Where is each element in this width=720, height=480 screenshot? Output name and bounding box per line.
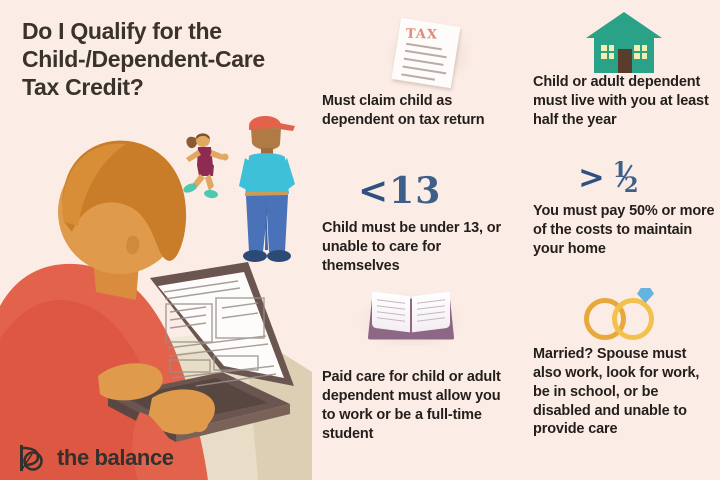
- right-item-2-text: You must pay 50% or more of the costs to…: [533, 202, 715, 259]
- greater-than-glyph: >: [578, 158, 606, 196]
- right-item-1-text: Child or adult dependent must live with …: [533, 73, 715, 130]
- tax-paper-line: [405, 50, 447, 58]
- middle-item-3-text: Paid care for child or adult dependent m…: [322, 368, 512, 443]
- wedding-ring-right: [612, 298, 654, 340]
- greater-than-half-symbol: > 1 2: [578, 158, 641, 196]
- tax-paper-line: [401, 73, 435, 80]
- open-book-icon: [358, 288, 464, 350]
- book-page-right: [412, 292, 450, 333]
- less-than-thirteen-symbol: <13: [358, 170, 441, 212]
- house-door: [618, 49, 632, 73]
- infographic-canvas: Do I Qualify for the Child-/Dependent-Ca…: [0, 0, 720, 480]
- running-girl-figure: [178, 128, 234, 200]
- the-balance-logo: the balance: [18, 442, 174, 474]
- house-roof: [586, 12, 662, 38]
- tax-paper-line: [404, 58, 444, 66]
- wedding-rings-icon: [580, 288, 676, 344]
- less-than-glyph: <: [358, 170, 389, 212]
- right-item-3-text: Married? Spouse must also work, look for…: [533, 345, 715, 439]
- middle-item-2-text: Child must be under 13, or unable to car…: [322, 219, 512, 276]
- house-icon: [586, 12, 662, 74]
- fraction-denominator: 2: [624, 172, 640, 197]
- tax-paper-line: [403, 66, 447, 74]
- house-window: [634, 45, 647, 59]
- tax-paper-line: [406, 43, 442, 50]
- tax-paper: TAX: [392, 18, 461, 89]
- middle-item-1-text: Must claim child as dependent on tax ret…: [322, 92, 512, 130]
- tax-paper-label: TAX: [406, 27, 439, 43]
- one-half-fraction: 1 2: [611, 159, 641, 195]
- balance-b-logomark: [18, 442, 48, 474]
- standing-man-figure: [235, 110, 297, 270]
- tax-document-icon: TAX: [380, 18, 476, 90]
- logo-wordmark: the balance: [57, 445, 174, 471]
- thirteen-glyph: 13: [389, 170, 441, 212]
- house-window: [601, 45, 614, 59]
- book-page-left: [372, 292, 410, 333]
